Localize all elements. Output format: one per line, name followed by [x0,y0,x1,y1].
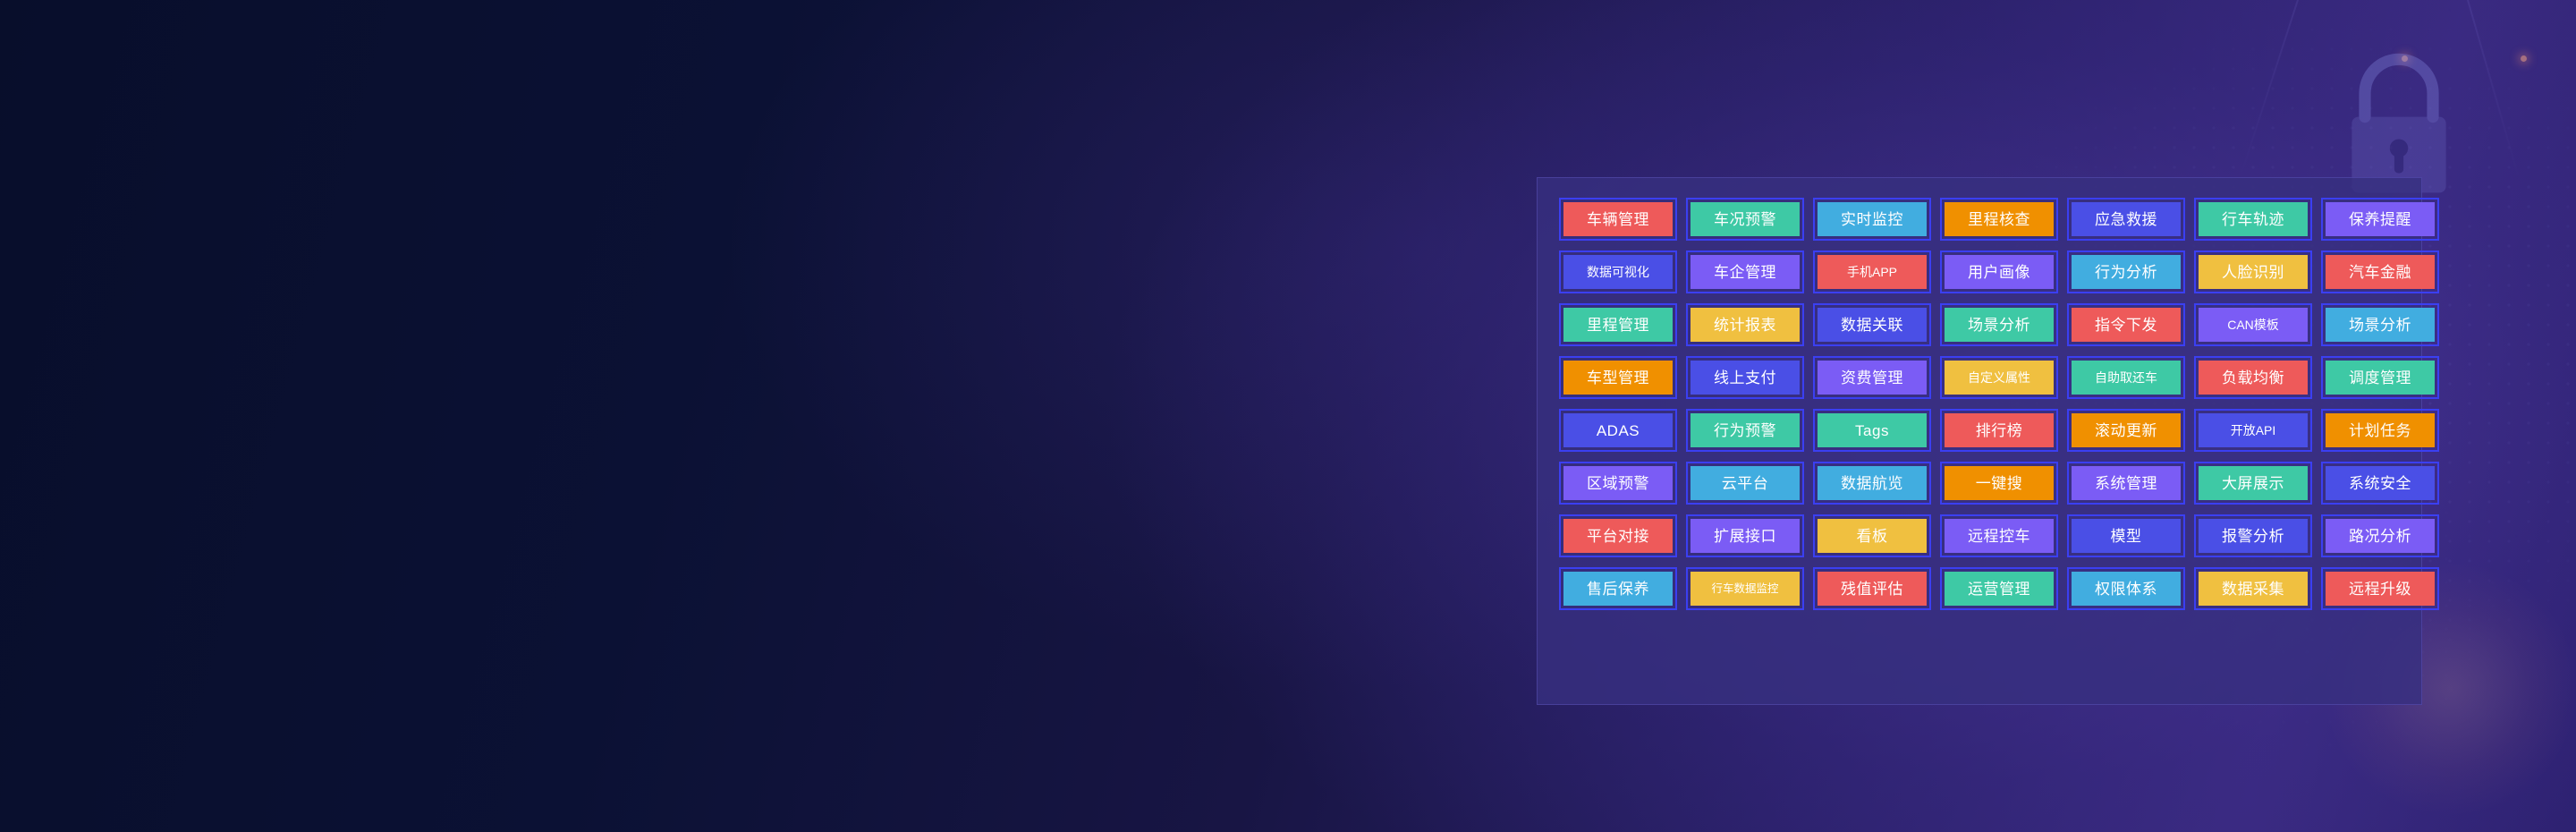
feature-tile[interactable]: 手机APP [1813,250,1931,293]
feature-tile-fill: 一键搜 [1945,466,2054,500]
feature-tile-fill: 云平台 [1690,466,1800,500]
tile-row: 车型管理线上支付资费管理自定义属性自助取还车负载均衡调度管理 [1559,356,2400,399]
feature-tile[interactable]: 车企管理 [1686,250,1804,293]
feature-tile-label: 实时监控 [1841,212,1903,227]
feature-tile-fill: 模型 [2072,519,2181,553]
feature-tile-fill: 残值评估 [1818,572,1927,606]
feature-tile-label: 自助取还车 [2095,371,2157,384]
feature-tile-label: 指令下发 [2095,318,2157,333]
feature-tile-fill: 资费管理 [1818,361,1927,395]
feature-tile-label: 大屏展示 [2222,476,2284,491]
feature-tile-label: 远程升级 [2349,582,2411,597]
feature-tile-fill: 数据采集 [2199,572,2308,606]
feature-tile-label: 售后保养 [1587,582,1649,597]
feature-tile-fill: 自定义属性 [1945,361,2054,395]
feature-tile-fill: 车况预警 [1690,202,1800,236]
feature-tile-label: 排行榜 [1976,423,2023,438]
feature-tile-fill: 售后保养 [1563,572,1673,606]
feature-tile[interactable]: 数据可视化 [1559,250,1677,293]
feature-tile-label: 残值评估 [1841,582,1903,597]
feature-tile[interactable]: 远程控车 [1940,514,2058,557]
glow-dot-left [2402,55,2408,62]
feature-tile-fill: 用户画像 [1945,255,2054,289]
feature-tile-fill: 运营管理 [1945,572,2054,606]
feature-tile[interactable]: 大屏展示 [2194,462,2312,505]
feature-tile-fill: 平台对接 [1563,519,1673,553]
feature-tile[interactable]: 系统安全 [2321,462,2439,505]
feature-tile-label: 数据可视化 [1587,266,1649,278]
feature-tile-label: 汽车金融 [2349,265,2411,280]
feature-tile-label: 数据采集 [2222,582,2284,597]
feature-tile[interactable]: 残值评估 [1813,567,1931,610]
feature-tile[interactable]: 行车数据监控 [1686,567,1804,610]
feature-tile-label: 系统管理 [2095,476,2157,491]
glow-dot-right [2521,55,2527,62]
feature-tile-label: 开放API [2231,424,2276,437]
feature-tile-label: 调度管理 [2349,370,2411,386]
feature-tile[interactable]: 汽车金融 [2321,250,2439,293]
tile-row: 区域预警云平台数据航览一键搜系统管理大屏展示系统安全 [1559,462,2400,505]
feature-tile[interactable]: 权限体系 [2067,567,2185,610]
feature-tile-label: 模型 [2111,529,2142,544]
feature-tile[interactable]: 报警分析 [2194,514,2312,557]
tile-row: ADAS行为预警Tags排行榜滚动更新开放API计划任务 [1559,409,2400,452]
feature-tile-fill: 指令下发 [2072,308,2181,342]
feature-tile-label: 报警分析 [2222,529,2284,544]
feature-tile-fill: 自助取还车 [2072,361,2181,395]
feature-tile-fill: 排行榜 [1945,413,2054,447]
feature-tile-label: 扩展接口 [1714,529,1776,544]
feature-tile-fill: 保养提醒 [2326,202,2435,236]
tile-row: 平台对接扩展接口看板远程控车模型报警分析路况分析 [1559,514,2400,557]
feature-tile-label: 场景分析 [1968,318,2030,333]
feature-tile-fill: 行为分析 [2072,255,2181,289]
feature-tile[interactable]: 场景分析 [1940,303,2058,346]
feature-tile-fill: 实时监控 [1818,202,1927,236]
feature-tile-fill: 滚动更新 [2072,413,2181,447]
feature-tile-label: 车企管理 [1714,265,1776,280]
feature-tile[interactable]: 指令下发 [2067,303,2185,346]
feature-tile-label: 计划任务 [2349,423,2411,438]
feature-tile-label: 行车轨迹 [2222,212,2284,227]
feature-tile[interactable]: 自定义属性 [1940,356,2058,399]
feature-tile-label: 行为分析 [2095,265,2157,280]
feature-tile-fill: CAN模板 [2199,308,2308,342]
feature-tile-label: 场景分析 [2349,318,2411,333]
feature-tile[interactable]: 线上支付 [1686,356,1804,399]
feature-tile-fill: 汽车金融 [2326,255,2435,289]
feature-tile-label: 人脸识别 [2222,265,2284,280]
feature-tile[interactable]: 区域预警 [1559,462,1677,505]
feature-tile-fill: Tags [1818,413,1927,447]
feature-tile-fill: 车型管理 [1563,361,1673,395]
feature-tile-fill: 数据航览 [1818,466,1927,500]
feature-tile[interactable]: 自助取还车 [2067,356,2185,399]
feature-tile[interactable]: 排行榜 [1940,409,2058,452]
feature-tile[interactable]: 看板 [1813,514,1931,557]
feature-tile[interactable]: 资费管理 [1813,356,1931,399]
feature-tile-label: 车辆管理 [1587,212,1649,227]
feature-tile[interactable]: 保养提醒 [2321,198,2439,241]
feature-tile-fill: 里程核查 [1945,202,2054,236]
feature-tile-label: 里程核查 [1968,212,2030,227]
feature-tile-label: Tags [1855,423,1889,438]
feature-tile-label: 资费管理 [1841,370,1903,386]
feature-tile-label: 数据关联 [1841,318,1903,333]
feature-tile-label: 保养提醒 [2349,212,2411,227]
feature-tile-label: 车型管理 [1587,370,1649,386]
feature-tile[interactable]: 行为分析 [2067,250,2185,293]
feature-tile[interactable]: 扩展接口 [1686,514,1804,557]
feature-tile-fill: 远程控车 [1945,519,2054,553]
feature-tile-fill: 车辆管理 [1563,202,1673,236]
feature-tile-fill: 人脸识别 [2199,255,2308,289]
feature-tile-label: 平台对接 [1587,529,1649,544]
feature-tile-label: 用户画像 [1968,265,2030,280]
feature-tile-fill: 负载均衡 [2199,361,2308,395]
feature-tile-fill: 系统安全 [2326,466,2435,500]
feature-tile-label: 路况分析 [2349,529,2411,544]
feature-tile-fill: 远程升级 [2326,572,2435,606]
feature-tile-fill: 系统管理 [2072,466,2181,500]
feature-tile-label: 行车数据监控 [1711,583,1778,595]
feature-tile-fill: 看板 [1818,519,1927,553]
tile-row: 售后保养行车数据监控残值评估运营管理权限体系数据采集远程升级 [1559,567,2400,610]
feature-tile-fill: 里程管理 [1563,308,1673,342]
feature-tile[interactable]: CAN模板 [2194,303,2312,346]
background-beam-right [2467,0,2521,181]
feature-tile-label: 数据航览 [1841,476,1903,491]
feature-tile-label: 负载均衡 [2222,370,2284,386]
feature-tile-label: 里程管理 [1587,318,1649,333]
feature-tile-fill: 报警分析 [2199,519,2308,553]
feature-tile-label: 车况预警 [1714,212,1776,227]
feature-tile-label: 统计报表 [1714,318,1776,333]
feature-tile[interactable]: 负载均衡 [2194,356,2312,399]
feature-tile-fill: 应急救援 [2072,202,2181,236]
feature-tile[interactable]: 运营管理 [1940,567,2058,610]
feature-tile-label: 看板 [1857,529,1888,544]
feature-tile-fill: 数据可视化 [1563,255,1673,289]
tile-row: 里程管理统计报表数据关联场景分析指令下发CAN模板场景分析 [1559,303,2400,346]
feature-tile[interactable]: 开放API [2194,409,2312,452]
feature-tile-fill: ADAS [1563,413,1673,447]
feature-tile[interactable]: 数据采集 [2194,567,2312,610]
feature-tile[interactable]: Tags [1813,409,1931,452]
feature-tile[interactable]: 计划任务 [2321,409,2439,452]
feature-tile[interactable]: 实时监控 [1813,198,1931,241]
feature-tile-label: 滚动更新 [2095,423,2157,438]
tile-row: 数据可视化车企管理手机APP用户画像行为分析人脸识别汽车金融 [1559,250,2400,293]
feature-tile[interactable]: 应急救援 [2067,198,2185,241]
feature-tile[interactable]: 路况分析 [2321,514,2439,557]
feature-tile-fill: 统计报表 [1690,308,1800,342]
feature-tile-label: 应急救援 [2095,212,2157,227]
feature-tile[interactable]: 统计报表 [1686,303,1804,346]
feature-tile-label: 系统安全 [2349,476,2411,491]
feature-tile-label: 线上支付 [1714,370,1776,386]
feature-tile-fill: 区域预警 [1563,466,1673,500]
feature-tile[interactable]: 云平台 [1686,462,1804,505]
feature-tile-fill: 数据关联 [1818,308,1927,342]
feature-tile-label: 运营管理 [1968,582,2030,597]
feature-tile[interactable]: 车型管理 [1559,356,1677,399]
feature-tile-label: CAN模板 [2227,318,2279,331]
feature-tile-fill: 扩展接口 [1690,519,1800,553]
feature-tile-fill: 调度管理 [2326,361,2435,395]
feature-tile-fill: 线上支付 [1690,361,1800,395]
feature-tile[interactable]: 人脸识别 [2194,250,2312,293]
feature-tile[interactable]: 平台对接 [1559,514,1677,557]
feature-tile[interactable]: 系统管理 [2067,462,2185,505]
feature-tile-label: 区域预警 [1587,476,1649,491]
page-background: 车辆管理车况预警实时监控里程核查应急救援行车轨迹保养提醒数据可视化车企管理手机A… [0,0,2576,832]
feature-tile[interactable]: 模型 [2067,514,2185,557]
feature-tile[interactable]: 车辆管理 [1559,198,1677,241]
feature-tile-fill: 行车数据监控 [1690,572,1800,606]
feature-tile[interactable]: 里程核查 [1940,198,2058,241]
feature-tile-label: ADAS [1597,423,1640,438]
feature-tile[interactable]: 行为预警 [1686,409,1804,452]
feature-tile-fill: 计划任务 [2326,413,2435,447]
feature-tile-fill: 行为预警 [1690,413,1800,447]
feature-tile-label: 自定义属性 [1968,371,2030,384]
feature-tile[interactable]: 里程管理 [1559,303,1677,346]
feature-tile-fill: 权限体系 [2072,572,2181,606]
feature-tile-fill: 行车轨迹 [2199,202,2308,236]
feature-tile[interactable]: 滚动更新 [2067,409,2185,452]
feature-tile[interactable]: 售后保养 [1559,567,1677,610]
feature-tile-fill: 开放API [2199,413,2308,447]
feature-tile-label: 权限体系 [2095,582,2157,597]
feature-tile-fill: 场景分析 [1945,308,2054,342]
feature-tile-fill: 大屏展示 [2199,466,2308,500]
tile-row: 车辆管理车况预警实时监控里程核查应急救援行车轨迹保养提醒 [1559,198,2400,241]
feature-tile[interactable]: 远程升级 [2321,567,2439,610]
feature-tile[interactable]: 数据关联 [1813,303,1931,346]
feature-tile-label: 云平台 [1722,476,1769,491]
feature-tile[interactable]: ADAS [1559,409,1677,452]
feature-tile-fill: 场景分析 [2326,308,2435,342]
feature-tile[interactable]: 场景分析 [2321,303,2439,346]
feature-tile-label: 一键搜 [1976,476,2023,491]
feature-tile-label: 远程控车 [1968,529,2030,544]
feature-tile[interactable]: 一键搜 [1940,462,2058,505]
feature-tile-fill: 路况分析 [2326,519,2435,553]
feature-tile[interactable]: 车况预警 [1686,198,1804,241]
feature-tile[interactable]: 行车轨迹 [2194,198,2312,241]
feature-tile-label: 手机APP [1847,266,1897,278]
feature-tile-fill: 手机APP [1818,255,1927,289]
feature-tile[interactable]: 数据航览 [1813,462,1931,505]
feature-tile[interactable]: 调度管理 [2321,356,2439,399]
background-beam-left [2239,0,2299,179]
feature-tile-fill: 车企管理 [1690,255,1800,289]
feature-tile-panel: 车辆管理车况预警实时监控里程核查应急救援行车轨迹保养提醒数据可视化车企管理手机A… [1537,177,2422,705]
feature-tile[interactable]: 用户画像 [1940,250,2058,293]
feature-tile-label: 行为预警 [1714,423,1776,438]
